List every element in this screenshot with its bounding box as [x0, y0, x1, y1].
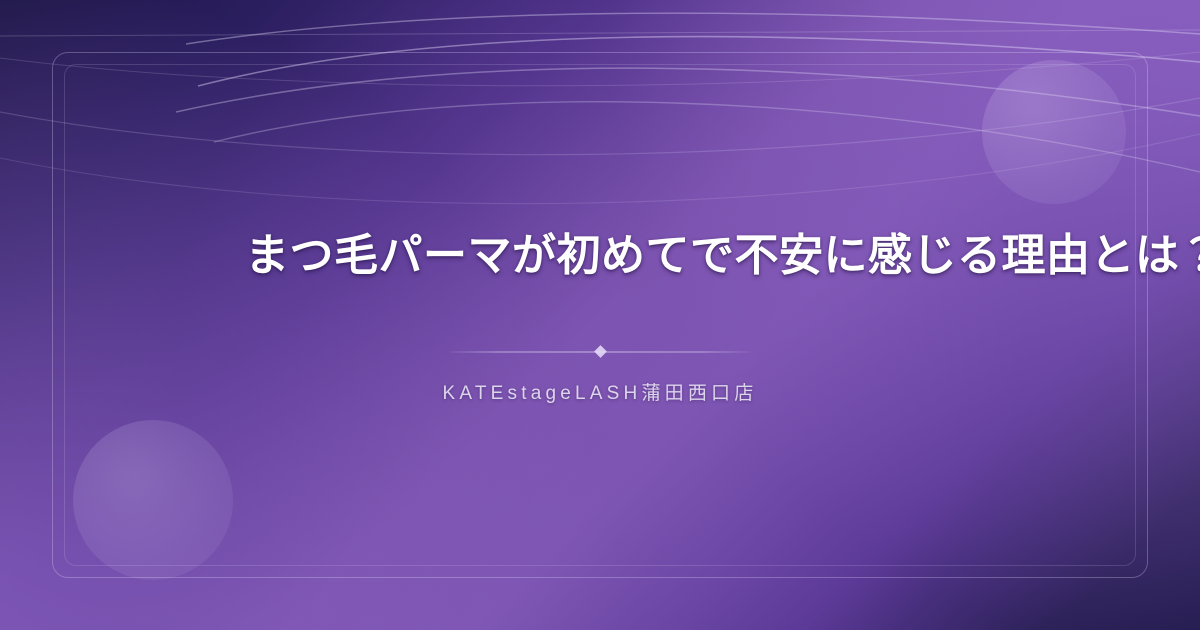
page-title: まつ毛パーマが初めてで不安に感じる理由とは？ — [245, 225, 955, 287]
og-image-card: まつ毛パーマが初めてで不安に感じる理由とは？ KATEstageLASH蒲田西口… — [0, 0, 1200, 630]
divider — [450, 344, 750, 360]
card-content: まつ毛パーマが初めてで不安に感じる理由とは？ KATEstageLASH蒲田西口… — [0, 0, 1200, 630]
site-name: KATEstageLASH蒲田西口店 — [443, 378, 758, 405]
diamond-icon — [594, 345, 607, 358]
